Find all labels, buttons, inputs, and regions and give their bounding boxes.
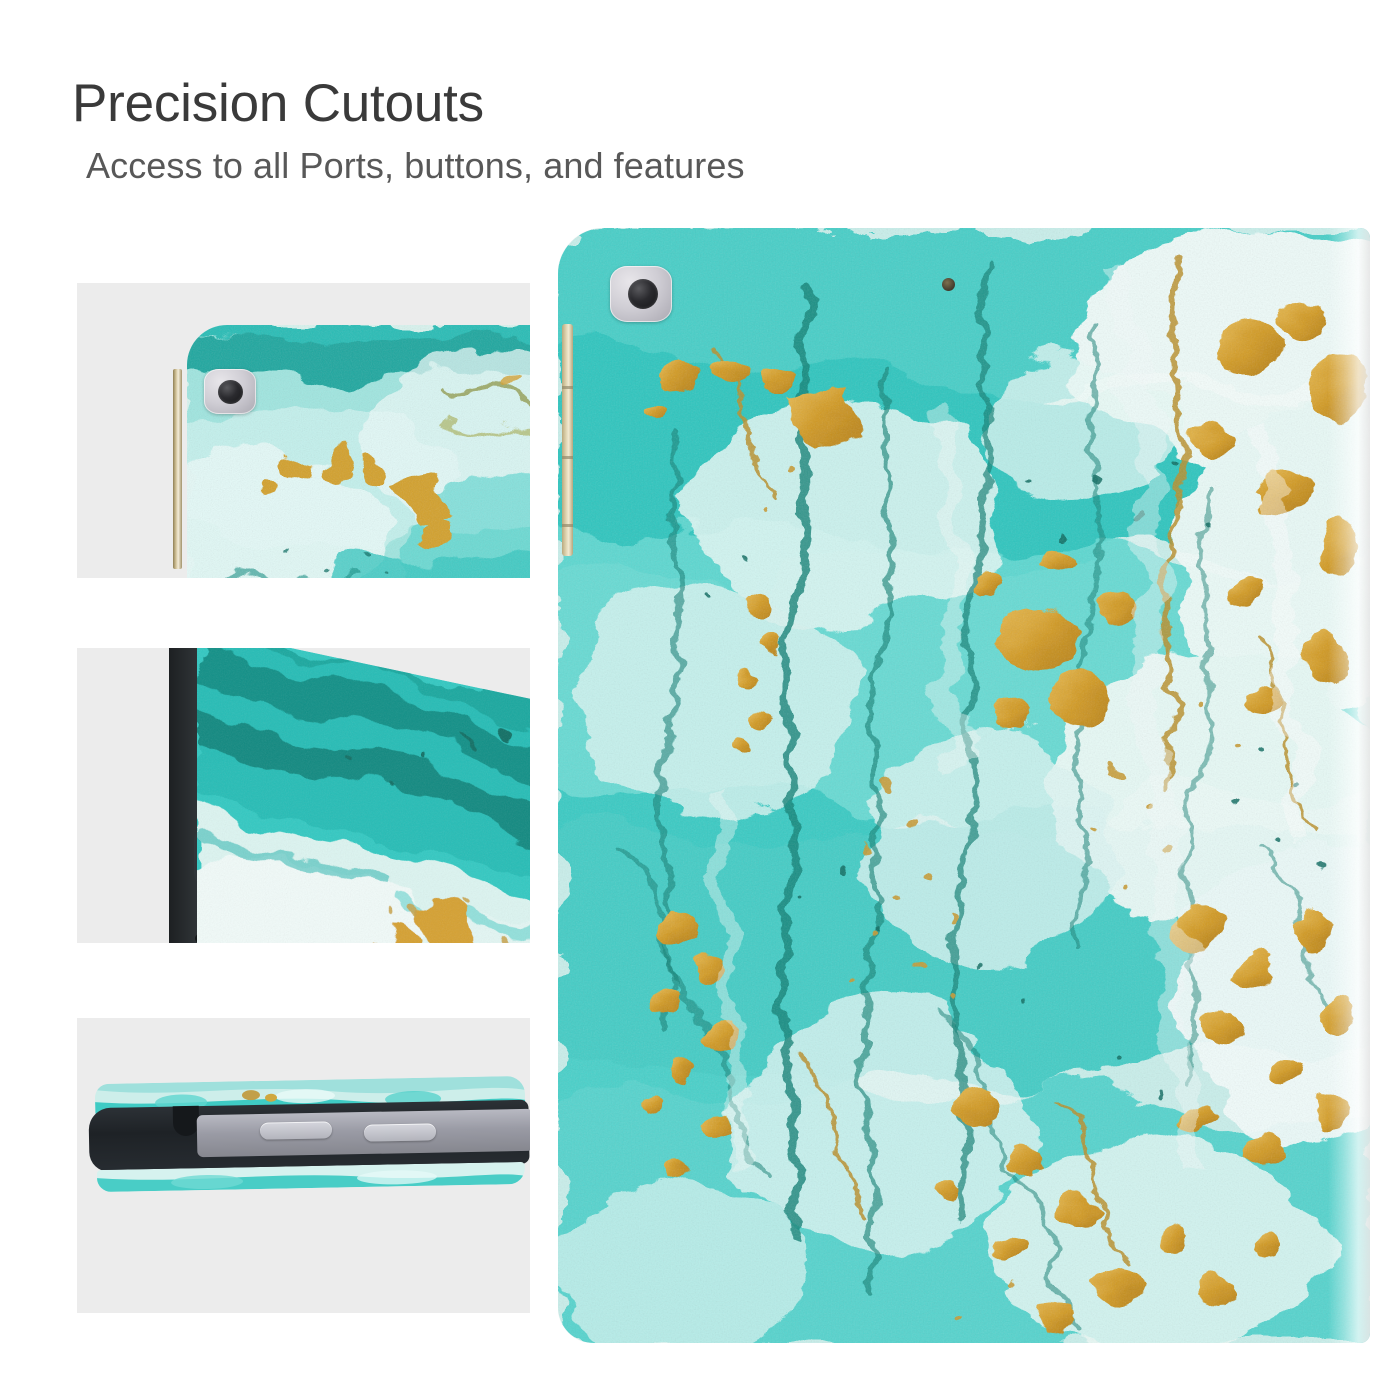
panel-port-speaker-closeup[interactable]: [77, 648, 530, 943]
panel-camera-cutout-closeup[interactable]: [77, 283, 530, 578]
product-feature-page: Precision Cutouts Access to all Ports, b…: [0, 0, 1400, 1400]
volume-up-button: [260, 1121, 332, 1139]
marble-texture-thumb1: [187, 325, 530, 578]
marble-svg-thumb2: [197, 648, 530, 943]
header: Precision Cutouts Access to all Ports, b…: [72, 76, 1172, 186]
case-side-rail-thumb1: [173, 369, 182, 569]
marble-texture-hero: [558, 228, 1370, 1343]
volume-down-button: [364, 1123, 436, 1141]
case-side-rail: [562, 324, 573, 556]
marble-svg-thumb1: [187, 325, 530, 578]
rear-camera-lens: [628, 279, 658, 309]
rail-segment-divider: [562, 524, 573, 527]
case-back-panel: [558, 228, 1370, 1343]
page-title: Precision Cutouts: [72, 76, 1172, 132]
port-edge-composition: [77, 648, 530, 943]
rail-segment-divider: [562, 456, 573, 459]
case-back-marble-thumb2: [197, 648, 530, 943]
case-corner-camera: [187, 325, 530, 578]
rail-segment-divider: [562, 386, 573, 389]
camera-lens-thumb1: [218, 380, 243, 404]
marble-svg-hero: [558, 228, 1370, 1343]
hero-product-image[interactable]: [558, 228, 1370, 1343]
panel-side-profile-buttons[interactable]: [77, 1018, 530, 1313]
flap-hinge-notch: [173, 1106, 200, 1136]
microphone-cutout: [942, 278, 955, 291]
page-subtitle: Access to all Ports, buttons, and featur…: [86, 146, 1172, 186]
